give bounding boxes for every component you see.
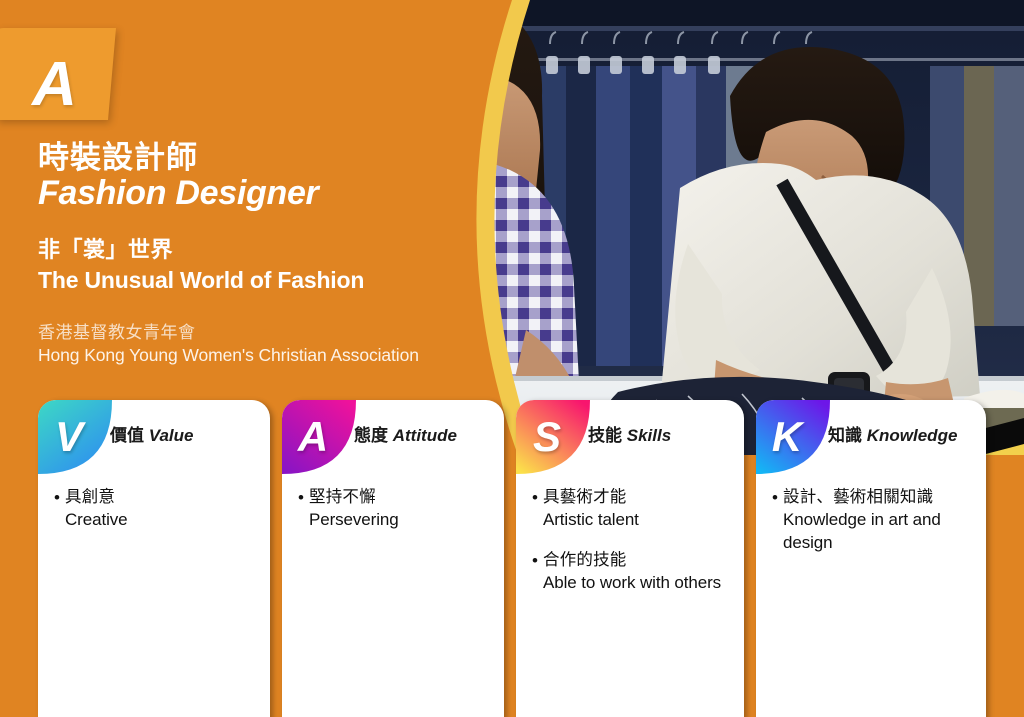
list-item: • 具藝術才能 Artistic talent xyxy=(532,486,732,532)
card-title-skills-en: Skills xyxy=(627,426,671,445)
badge-letter-value: V xyxy=(38,400,100,474)
badge-letter-knowledge: K xyxy=(756,400,818,474)
badge-skills-icon: S xyxy=(516,400,590,474)
bullet-en: Knowledge in art and design xyxy=(783,509,974,554)
vask-card-attitude[interactable]: A 態度 Attitude • 堅持不懈 Persevering xyxy=(282,400,504,717)
list-item: • 合作的技能 Able to work with others xyxy=(532,549,732,595)
card-title-attitude-en: Attitude xyxy=(393,426,457,445)
bullet-dot-icon: • xyxy=(772,486,783,555)
bullet-zh: 堅持不懈 xyxy=(309,486,492,509)
bullet-dot-icon: • xyxy=(532,486,543,532)
card-title-knowledge-en: Knowledge xyxy=(867,426,958,445)
badge-knowledge-icon: K xyxy=(756,400,830,474)
bullet-en: Creative xyxy=(65,509,258,532)
bullet-en: Artistic talent xyxy=(543,509,732,532)
card-title-skills-zh: 技能 xyxy=(588,426,622,445)
badge-letter-skills: S xyxy=(516,400,578,474)
card-title-value-zh: 價值 xyxy=(110,426,144,445)
card-title-knowledge-zh: 知識 xyxy=(828,426,862,445)
list-item: • 堅持不懈 Persevering xyxy=(298,486,492,532)
card-bullets-attitude: • 堅持不懈 Persevering xyxy=(298,486,492,549)
card-title-knowledge: 知識 Knowledge xyxy=(828,426,980,446)
card-title-value-en: Value xyxy=(149,426,194,445)
badge-attitude-icon: A xyxy=(282,400,356,474)
card-bullets-knowledge: • 設計、藝術相關知識 Knowledge in art and design xyxy=(772,486,974,572)
bullet-en: Able to work with others xyxy=(543,572,732,595)
vask-card-value[interactable]: V 價值 Value • 具創意 Creative xyxy=(38,400,270,717)
bullet-zh: 設計、藝術相關知識 xyxy=(783,486,974,509)
bullet-dot-icon: • xyxy=(54,486,65,532)
badge-letter-attitude: A xyxy=(282,400,344,474)
bullet-en: Persevering xyxy=(309,509,492,532)
card-title-attitude-zh: 態度 xyxy=(354,426,388,445)
list-item: • 具創意 Creative xyxy=(54,486,258,532)
card-bullets-skills: • 具藝術才能 Artistic talent • 合作的技能 Able to … xyxy=(532,486,732,612)
list-item: • 設計、藝術相關知識 Knowledge in art and design xyxy=(772,486,974,555)
bullet-zh: 具藝術才能 xyxy=(543,486,732,509)
vask-card-knowledge[interactable]: K 知識 Knowledge • 設計、藝術相關知識 Knowledge in … xyxy=(756,400,986,717)
vask-card-row: V 價值 Value • 具創意 Creative A xyxy=(0,0,1024,717)
vask-card-skills[interactable]: S 技能 Skills • 具藝術才能 Artistic talent • 合作… xyxy=(516,400,744,717)
bullet-dot-icon: • xyxy=(532,549,543,595)
card-title-attitude: 態度 Attitude xyxy=(354,426,498,446)
badge-value-icon: V xyxy=(38,400,112,474)
card-title-skills: 技能 Skills xyxy=(588,426,738,446)
bullet-zh: 具創意 xyxy=(65,486,258,509)
bullet-zh: 合作的技能 xyxy=(543,549,732,572)
card-title-value: 價值 Value xyxy=(110,426,264,446)
bullet-dot-icon: • xyxy=(298,486,309,532)
card-bullets-value: • 具創意 Creative xyxy=(54,486,258,549)
